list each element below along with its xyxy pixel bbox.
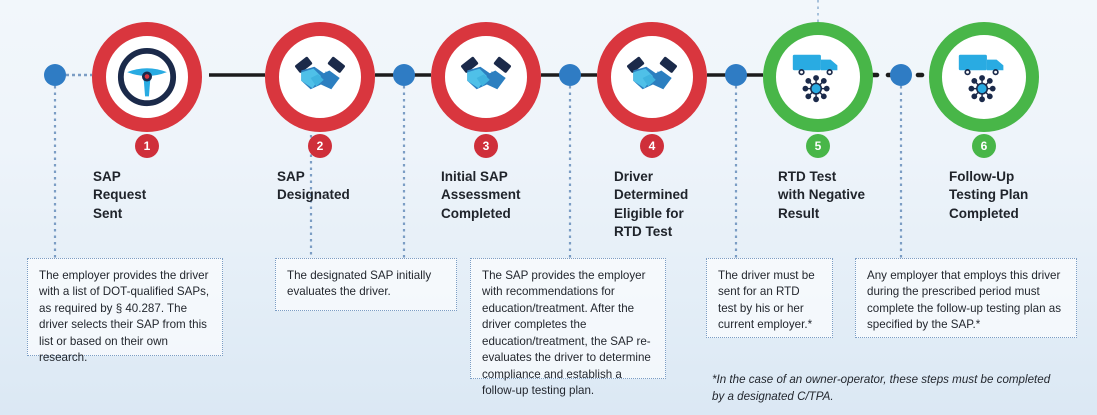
step-title-4: Driver Determined Eligible for RTD Test — [614, 168, 764, 242]
handshake-icon — [611, 36, 693, 118]
steering-wheel-icon — [106, 36, 188, 118]
step-badge-6: 6 — [972, 134, 996, 158]
footnote-text: *In the case of an owner-operator, these… — [712, 372, 1052, 406]
step-badge-3: 3 — [474, 134, 498, 158]
step-title-6: Follow-Up Testing Plan Completed — [949, 168, 1097, 223]
junction-dot-3 — [393, 64, 415, 86]
callout-box-1: The employer provides the driver with a … — [27, 258, 223, 356]
junction-dot-5 — [725, 64, 747, 86]
origin-dot — [44, 64, 66, 86]
step-badge-1: 1 — [135, 134, 159, 158]
handshake-icon — [445, 36, 527, 118]
step-node-4[interactable] — [597, 22, 707, 132]
step-badge-2: 2 — [308, 134, 332, 158]
truck-network-icon — [777, 36, 859, 118]
step-node-5[interactable] — [763, 22, 873, 132]
callout-box-5: Any employer that employs this driver du… — [855, 258, 1077, 338]
step-title-3: Initial SAP Assessment Completed — [441, 168, 601, 223]
step-node-6[interactable] — [929, 22, 1039, 132]
step-node-2[interactable] — [265, 22, 375, 132]
infographic-canvas: 1 SAP Request Sent 2 SAP Designated — [0, 0, 1097, 415]
junction-dot-4 — [559, 64, 581, 86]
junction-dot-6 — [890, 64, 912, 86]
step-title-2: SAP Designated — [277, 168, 432, 205]
callout-box-2: The designated SAP initially evaluates t… — [275, 258, 457, 311]
step-node-1[interactable] — [92, 22, 202, 132]
step-node-3[interactable] — [431, 22, 541, 132]
callout-box-4: The driver must be sent for an RTD test … — [706, 258, 833, 338]
step-title-1: SAP Request Sent — [93, 168, 243, 223]
step-title-5: RTD Test with Negative Result — [778, 168, 938, 223]
callout-box-3: The SAP provides the employer with recom… — [470, 258, 666, 379]
step-badge-4: 4 — [640, 134, 664, 158]
truck-network-icon — [943, 36, 1025, 118]
handshake-icon — [279, 36, 361, 118]
step-badge-5: 5 — [806, 134, 830, 158]
